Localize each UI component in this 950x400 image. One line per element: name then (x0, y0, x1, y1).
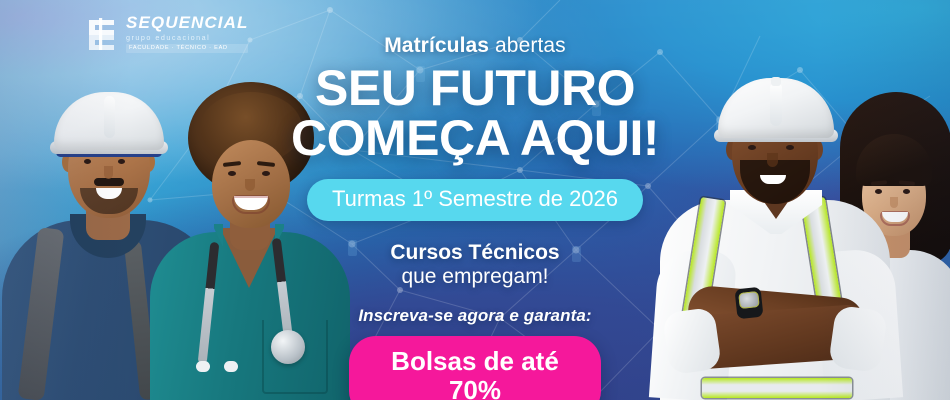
cuff (662, 307, 722, 376)
brand-tags: FACULDADE · TÉCNICO · EAD (126, 44, 248, 54)
incentive-text: Inscreva-se agora e garanta: (358, 306, 591, 326)
eyebrow-light: abertas (489, 34, 566, 57)
semester-badge: Turmas 1º Semestre de 2026 (307, 179, 643, 221)
eye (903, 189, 910, 194)
cta-line-1: Bolsas de até (391, 347, 559, 376)
cuff (828, 305, 888, 374)
subheading: Cursos Técnicos que empregam! (390, 241, 559, 288)
promo-banner: SEQUENCIAL grupo educacional FACULDADE ·… (0, 0, 950, 400)
headline-line-2: COMEÇA AQUI! (291, 114, 659, 162)
eye (748, 145, 756, 150)
hard-hat-ridge (770, 82, 782, 126)
eye (262, 171, 270, 176)
stethoscope-earpiece (224, 361, 238, 372)
eye (118, 159, 125, 164)
stethoscope-chestpiece-icon (271, 330, 305, 364)
headline: SEU FUTURO COMEÇA AQUI! (291, 64, 659, 162)
brand-tagline: grupo educacional (126, 34, 248, 41)
eye (84, 159, 91, 164)
safety-vest-band (702, 378, 852, 398)
brand-logo[interactable]: SEQUENCIAL grupo educacional FACULDADE ·… (86, 14, 248, 53)
eye (228, 171, 236, 176)
subheading-line-2: que empregam! (390, 265, 559, 289)
person-engineer-right (660, 0, 890, 400)
moustache (94, 178, 124, 186)
eyebrow-text: Matrículas abertas (384, 34, 566, 58)
hard-hat-ridge (104, 96, 115, 138)
sequencial-s-monogram-icon (86, 17, 117, 51)
hard-hat-knob (771, 77, 781, 86)
stethoscope-earpiece (196, 361, 210, 372)
nose (767, 153, 778, 167)
scholarship-cta-button[interactable]: Bolsas de até 70% (349, 336, 601, 400)
nose (104, 166, 113, 179)
cta-line-2: 70% (391, 376, 559, 400)
nose (245, 179, 255, 191)
headline-line-1: SEU FUTURO (315, 60, 635, 116)
eyebrow-strong: Matrículas (384, 34, 489, 57)
eye (786, 145, 794, 150)
nose (890, 197, 898, 208)
brand-name: SEQUENCIAL (126, 14, 248, 31)
watch-face (738, 291, 760, 309)
subheading-line-1: Cursos Técnicos (390, 241, 559, 265)
